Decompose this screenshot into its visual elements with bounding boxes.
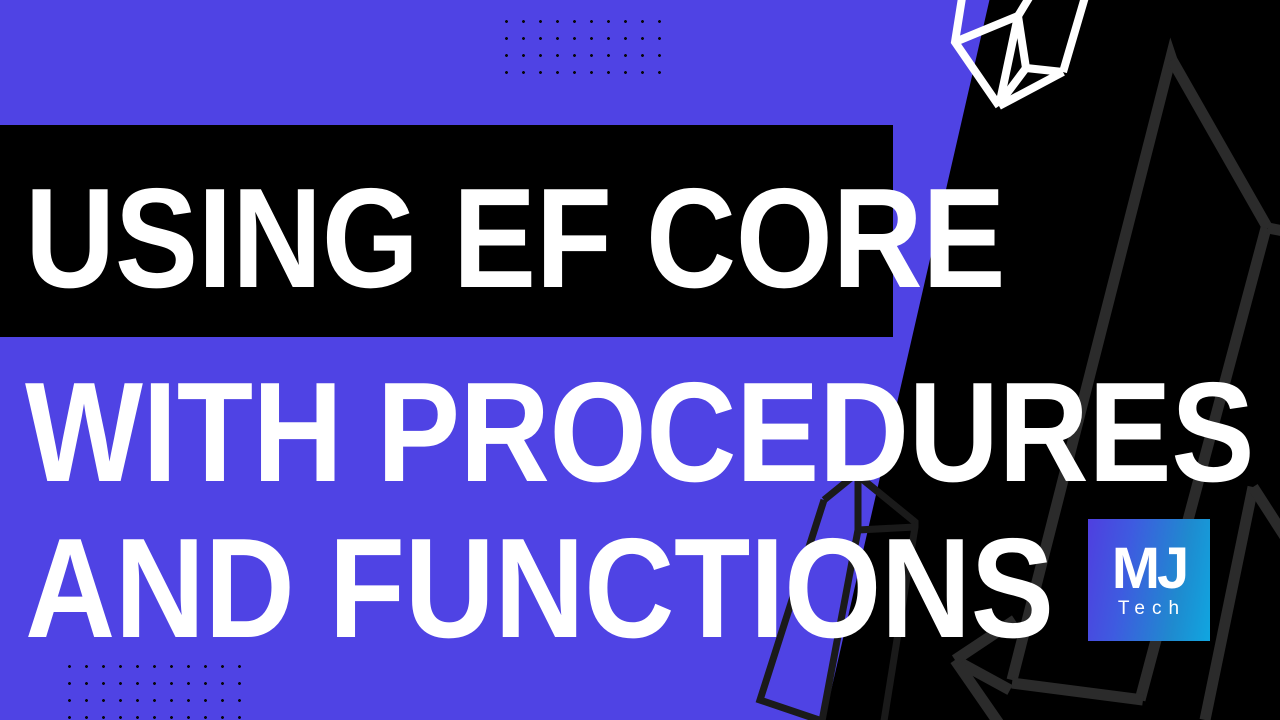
logo-monogram: MJ bbox=[1112, 544, 1187, 593]
video-thumbnail: USING EF CORE WITH PROCEDURES AND FUNCTI… bbox=[0, 0, 1280, 720]
logo-subtitle: Tech bbox=[1118, 598, 1186, 620]
title-line-2: WITH PROCEDURES bbox=[25, 362, 1254, 504]
mj-tech-logo: MJ Tech bbox=[1088, 519, 1210, 641]
dot-grid-top-icon bbox=[495, 10, 668, 80]
title-line-1: USING EF CORE bbox=[25, 168, 1005, 310]
title-line-3: AND FUNCTIONS bbox=[25, 518, 1054, 660]
